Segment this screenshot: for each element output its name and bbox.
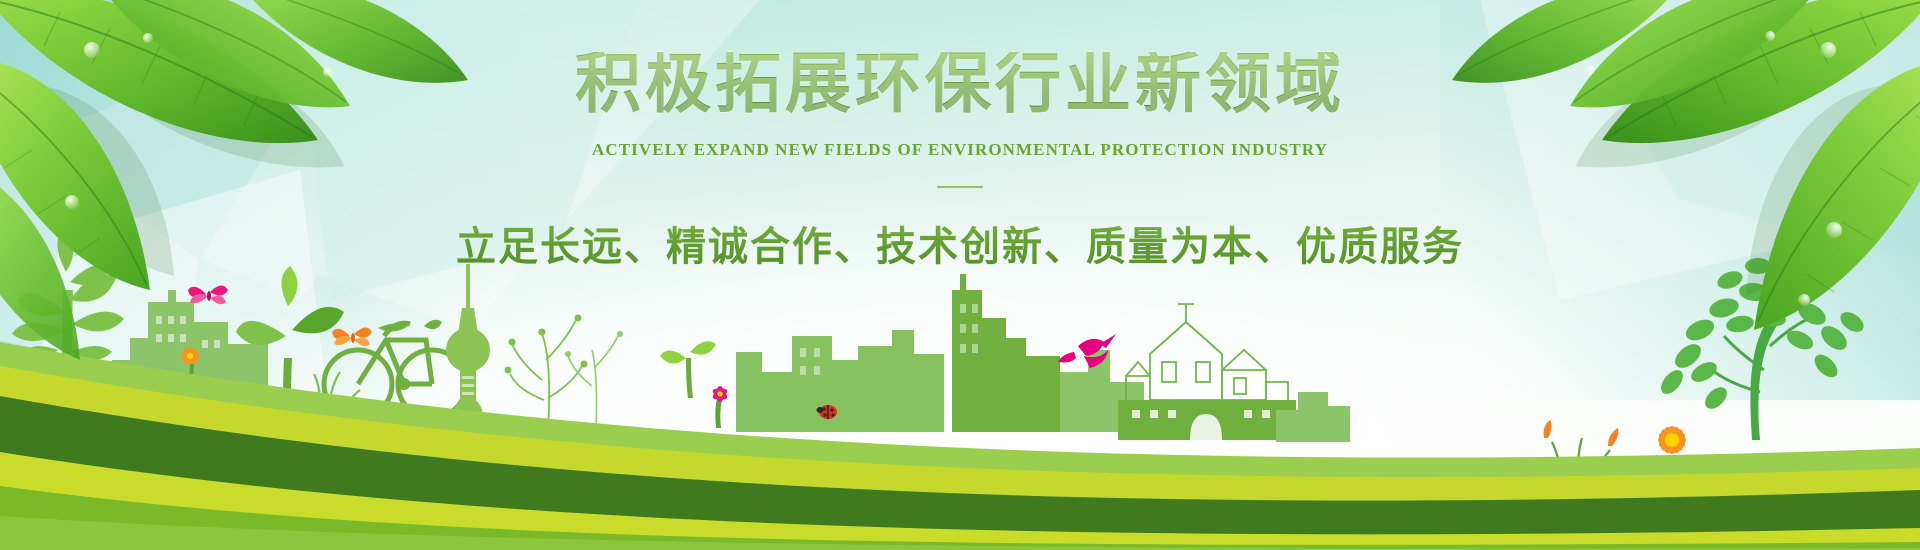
headline-block: 积极拓展环保行业新领域 ACTIVELY EXPAND NEW FIELDS O… — [0, 52, 1920, 272]
eco-banner: 积极拓展环保行业新领域 ACTIVELY EXPAND NEW FIELDS O… — [0, 0, 1920, 550]
page-tagline: 立足长远、精诚合作、技术创新、质量为本、优质服务 — [0, 214, 1920, 272]
wave-bands — [0, 290, 1920, 550]
page-title: 积极拓展环保行业新领域 — [0, 52, 1920, 118]
divider-rule — [937, 186, 983, 188]
page-subtitle: ACTIVELY EXPAND NEW FIELDS OF ENVIRONMEN… — [0, 140, 1920, 160]
